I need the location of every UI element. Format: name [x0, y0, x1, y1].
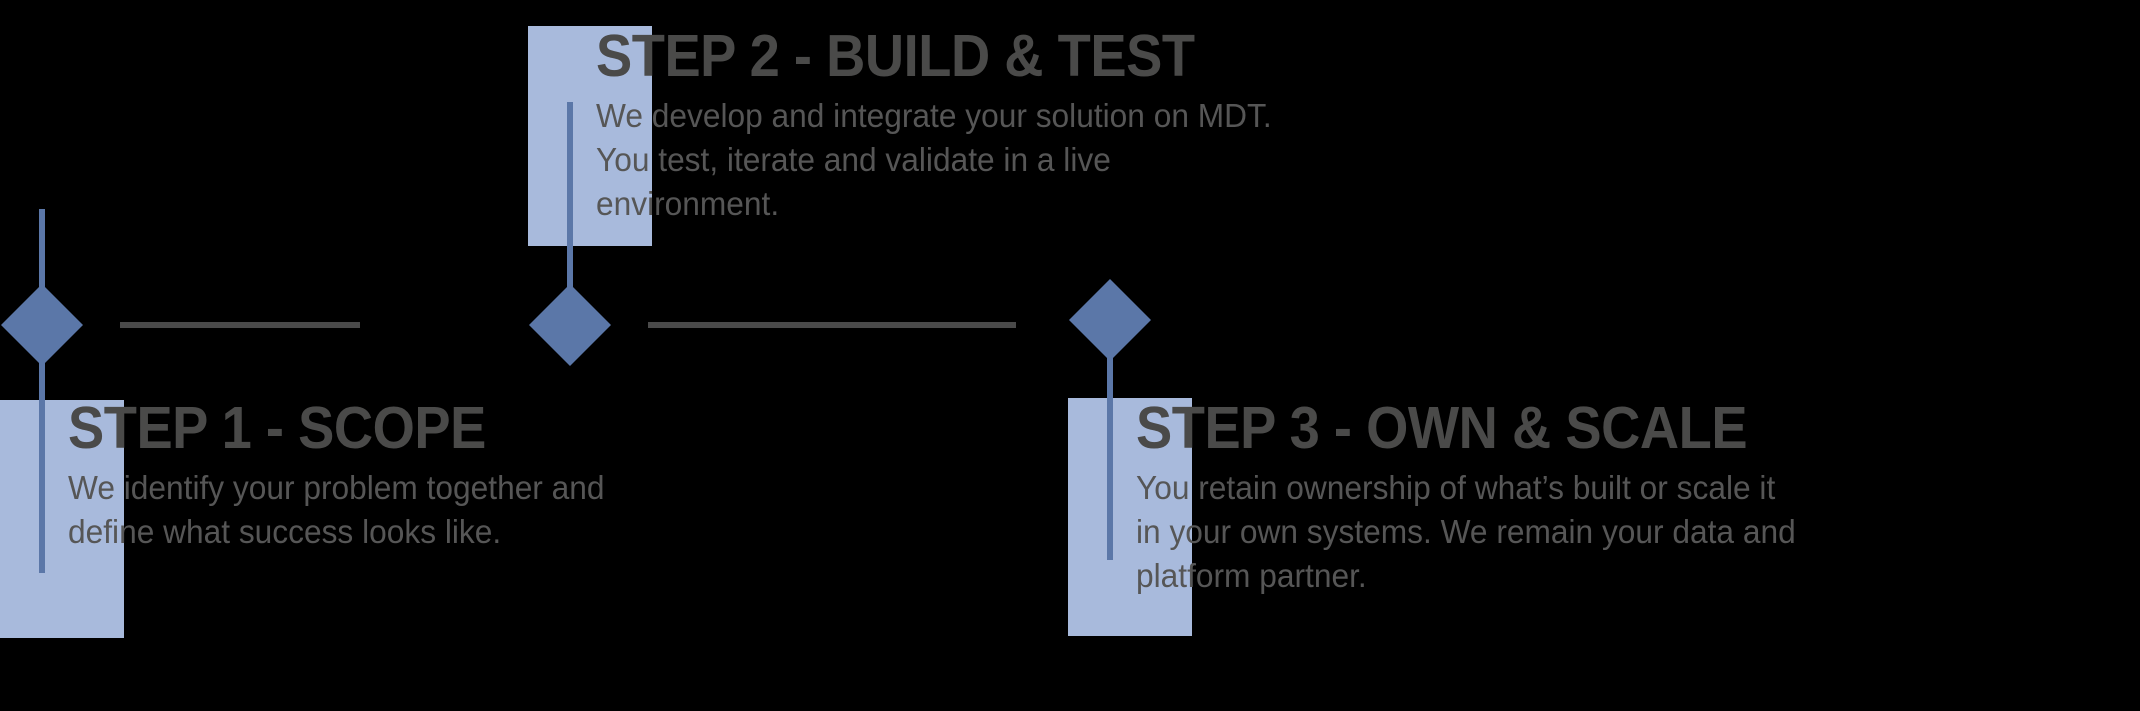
diamond-icon-step-2: [529, 284, 611, 366]
step-body-line: in your own systems. We remain your data…: [1136, 510, 2096, 554]
diamond-icon-step-3: [1069, 279, 1151, 361]
process-timeline-graphic: STEP 2 - BUILD & TEST We develop and int…: [0, 0, 2140, 711]
connector-step-1-to-step-2: [120, 322, 360, 328]
step-title-step-1: STEP 1 - SCOPE: [68, 398, 988, 460]
connector-step-2-to-step-3: [648, 322, 1016, 328]
step-body-line: environment.: [596, 182, 1652, 226]
step-body-line: We develop and integrate your solution o…: [596, 94, 1652, 138]
marker-stem-step-3: [1107, 328, 1113, 560]
step-block-step-1: STEP 1 - SCOPE We identify your problem …: [68, 398, 1068, 554]
step-body-line: define what success looks like.: [68, 510, 1028, 554]
step-body-step-3: You retain ownership of what’s built or …: [1136, 460, 2096, 599]
step-body-line: platform partner.: [1136, 554, 2096, 598]
step-body-step-2: We develop and integrate your solution o…: [596, 88, 1652, 227]
step-title-step-3: STEP 3 - OWN & SCALE: [1136, 398, 2056, 460]
step-title-step-2: STEP 2 - BUILD & TEST: [596, 26, 1608, 88]
step-body-line: You retain ownership of what’s built or …: [1136, 466, 2096, 510]
marker-stem-down-step-1: [39, 333, 45, 573]
step-body-line: We identify your problem together and: [68, 466, 1028, 510]
step-block-step-3: STEP 3 - OWN & SCALE You retain ownershi…: [1136, 398, 2136, 599]
step-body-step-1: We identify your problem together and de…: [68, 460, 1028, 554]
diamond-icon-step-1: [1, 284, 83, 366]
step-body-line: You test, iterate and validate in a live: [596, 138, 1652, 182]
step-block-step-2: STEP 2 - BUILD & TEST We develop and int…: [596, 26, 1696, 227]
